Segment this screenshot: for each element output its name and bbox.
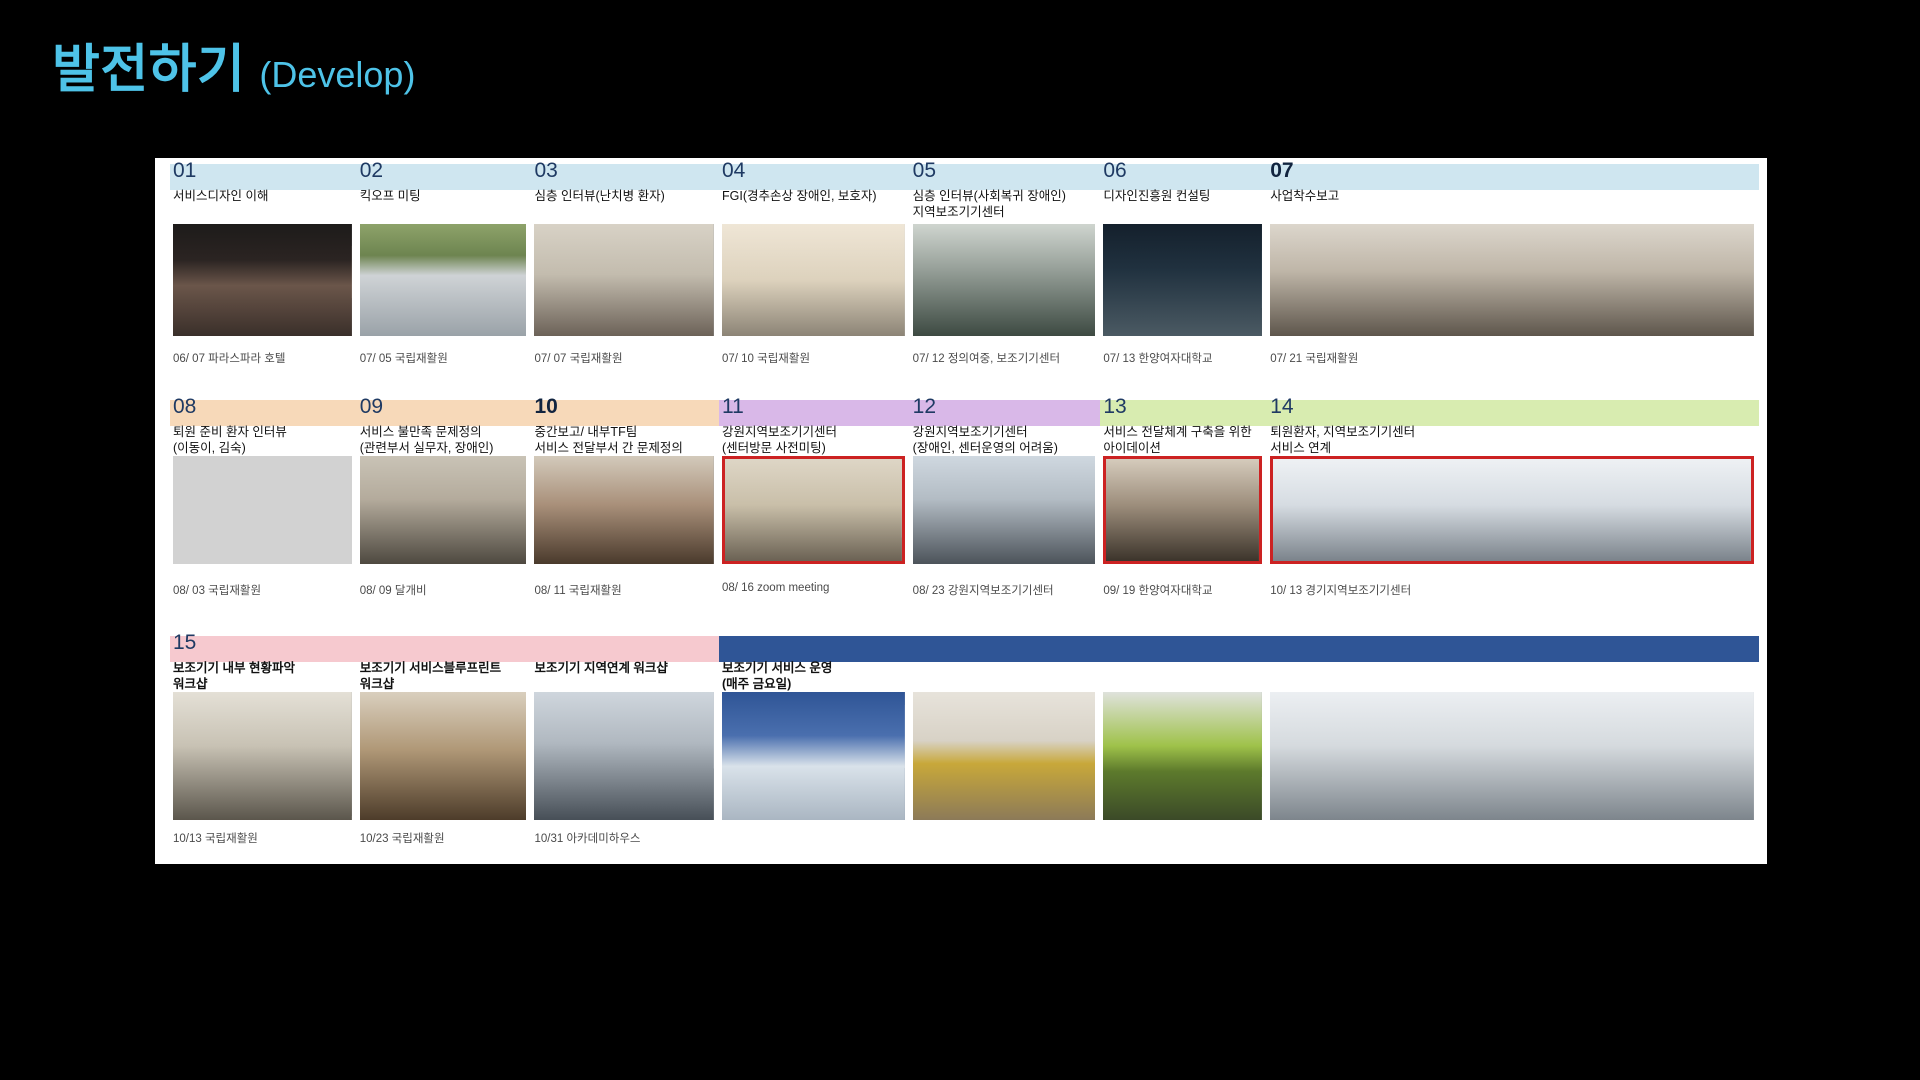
item-label xyxy=(910,656,1109,692)
item-label: 사업착수보고 xyxy=(1267,184,1767,220)
item-number: 09 xyxy=(357,394,532,420)
item-number: 01 xyxy=(170,158,357,184)
item-label: 보조기기 서비스 운영 (매주 금요일) xyxy=(719,656,918,692)
item-number: 11 xyxy=(719,394,910,420)
item-number: 15 xyxy=(170,630,357,656)
timeline-item[interactable]: 10중간보고/ 내부TF팀 서비스 전달부서 간 문제정의08/ 11 국립재활… xyxy=(531,394,719,626)
item-number: 12 xyxy=(910,394,1101,420)
item-number: 13 xyxy=(1100,394,1267,420)
item-number: 14 xyxy=(1267,394,1759,420)
item-photo[interactable] xyxy=(1103,224,1262,336)
item-label: 심층 인터뷰(사회복귀 장애인) 지역보조기기센터 xyxy=(910,184,1109,220)
timeline-item[interactable]: 04FGI(경추손상 장애인, 보호자)07/ 10 국립재활원 xyxy=(719,158,910,394)
item-label: FGI(경추손상 장애인, 보호자) xyxy=(719,184,924,220)
timeline-item[interactable]: 02킥오프 미팅07/ 05 국립재활원 xyxy=(357,158,532,394)
item-caption: 07/ 07 국립재활원 xyxy=(534,350,622,366)
item-photo[interactable] xyxy=(1270,456,1754,564)
timeline-item[interactable] xyxy=(1100,630,1267,864)
item-label: 퇴원환자, 지역보조기기센터 서비스 연계 xyxy=(1267,420,1767,456)
item-caption: 08/ 03 국립재활원 xyxy=(173,582,261,598)
item-photo[interactable] xyxy=(360,456,527,564)
item-number xyxy=(910,630,1101,656)
timeline-item[interactable]: 11강원지역보조기기센터 (센터방문 사전미팅)08/ 16 zoom meet… xyxy=(719,394,910,626)
timeline-item[interactable]: 08퇴원 준비 환자 인터뷰 (이동이, 김숙)08/ 03 국립재활원 xyxy=(170,394,357,626)
item-caption: 08/ 16 zoom meeting xyxy=(722,582,829,594)
item-label: 킥오프 미팅 xyxy=(357,184,540,220)
item-number: 03 xyxy=(531,158,719,184)
item-caption: 07/ 10 국립재활원 xyxy=(722,350,810,366)
item-label xyxy=(1100,656,1275,692)
item-caption: 10/ 13 경기지역보조기기센터 xyxy=(1270,582,1411,598)
page-title: 발전하기(Develop) xyxy=(52,44,415,96)
timeline-item[interactable]: 01서비스디자인 이해06/ 07 파라스파라 호텔 xyxy=(170,158,357,394)
timeline-item[interactable]: 보조기기 지역연계 워크샵10/31 아카데미하우스 xyxy=(531,630,719,864)
item-label: 보조기기 내부 현황파악 워크샵 xyxy=(170,656,365,692)
item-number: 02 xyxy=(357,158,532,184)
timeline-item[interactable]: 05심층 인터뷰(사회복귀 장애인) 지역보조기기센터07/ 12 정의여중, … xyxy=(910,158,1101,394)
item-photo[interactable] xyxy=(1270,692,1754,820)
item-number: 06 xyxy=(1100,158,1267,184)
item-photo[interactable] xyxy=(534,692,714,820)
timeline-item[interactable]: 14퇴원환자, 지역보조기기센터 서비스 연계10/ 13 경기지역보조기기센터 xyxy=(1267,394,1759,626)
row-3-columns: 15보조기기 내부 현황파악 워크샵10/13 국립재활원보조기기 서비스블루프… xyxy=(170,630,1759,864)
page-title-english: (Develop) xyxy=(259,54,415,95)
item-caption: 10/23 국립재활원 xyxy=(360,830,445,846)
item-photo[interactable] xyxy=(534,456,714,564)
row-2-columns: 08퇴원 준비 환자 인터뷰 (이동이, 김숙)08/ 03 국립재활원09서비… xyxy=(170,394,1759,626)
item-photo[interactable] xyxy=(173,224,352,336)
item-caption: 07/ 05 국립재활원 xyxy=(360,350,448,366)
item-photo[interactable] xyxy=(1270,224,1754,336)
item-caption: 06/ 07 파라스파라 호텔 xyxy=(173,350,285,366)
item-number xyxy=(1100,630,1267,656)
page-title-korean: 발전하기 xyxy=(52,41,245,99)
item-number: 04 xyxy=(719,158,910,184)
item-photo[interactable] xyxy=(173,692,352,820)
item-label: 심층 인터뷰(난치병 환자) xyxy=(531,184,727,220)
row-1-columns: 01서비스디자인 이해06/ 07 파라스파라 호텔02킥오프 미팅07/ 05… xyxy=(170,158,1759,394)
item-caption: 09/ 19 한양여자대학교 xyxy=(1103,582,1212,598)
item-number xyxy=(357,630,532,656)
timeline-row-1: 01서비스디자인 이해06/ 07 파라스파라 호텔02킥오프 미팅07/ 05… xyxy=(155,158,1767,394)
item-photo[interactable] xyxy=(1103,456,1262,564)
item-photo[interactable] xyxy=(913,224,1096,336)
item-caption: 08/ 09 달개비 xyxy=(360,582,427,598)
item-number: 05 xyxy=(910,158,1101,184)
item-label: 중간보고/ 내부TF팀 서비스 전달부서 간 문제정의 xyxy=(531,420,727,456)
item-label: 강원지역보조기기센터 (장애인, 센터운영의 어려움) xyxy=(910,420,1109,456)
item-number xyxy=(531,630,719,656)
item-label xyxy=(1267,656,1767,692)
timeline-item[interactable]: 07사업착수보고07/ 21 국립재활원 xyxy=(1267,158,1759,394)
item-label: 디자인진흥원 컨설팅 xyxy=(1100,184,1275,220)
item-label: 서비스디자인 이해 xyxy=(170,184,365,220)
timeline-item[interactable]: 보조기기 서비스 운영 (매주 금요일) xyxy=(719,630,910,864)
item-number xyxy=(1267,630,1759,656)
item-caption: 08/ 23 강원지역보조기기센터 xyxy=(913,582,1054,598)
item-photo[interactable] xyxy=(173,456,352,564)
timeline-row-3: 15보조기기 내부 현황파악 워크샵10/13 국립재활원보조기기 서비스블루프… xyxy=(155,630,1767,864)
timeline-item[interactable]: 09서비스 불만족 문제정의 (관련부서 실무자, 장애인)08/ 09 달개비 xyxy=(357,394,532,626)
item-number xyxy=(719,630,910,656)
timeline-item[interactable]: 12강원지역보조기기센터 (장애인, 센터운영의 어려움)08/ 23 강원지역… xyxy=(910,394,1101,626)
item-photo[interactable] xyxy=(722,224,905,336)
timeline-item[interactable]: 15보조기기 내부 현황파악 워크샵10/13 국립재활원 xyxy=(170,630,357,864)
item-label: 퇴원 준비 환자 인터뷰 (이동이, 김숙) xyxy=(170,420,365,456)
item-label: 보조기기 서비스블루프린트 워크샵 xyxy=(357,656,540,692)
item-photo[interactable] xyxy=(534,224,714,336)
item-caption: 07/ 12 정의여중, 보조기기센터 xyxy=(913,350,1060,366)
timeline-item[interactable]: 보조기기 서비스블루프린트 워크샵10/23 국립재활원 xyxy=(357,630,532,864)
item-photo[interactable] xyxy=(913,692,1096,820)
item-photo[interactable] xyxy=(360,692,527,820)
item-label: 서비스 전달체계 구축을 위한 아이데이션 xyxy=(1100,420,1275,456)
item-photo[interactable] xyxy=(722,692,905,820)
timeline-item[interactable] xyxy=(1267,630,1759,864)
timeline-row-2: 08퇴원 준비 환자 인터뷰 (이동이, 김숙)08/ 03 국립재활원09서비… xyxy=(155,394,1767,626)
item-number: 10 xyxy=(531,394,719,420)
item-label: 보조기기 지역연계 워크샵 xyxy=(531,656,727,692)
item-caption: 07/ 13 한양여자대학교 xyxy=(1103,350,1212,366)
timeline-item[interactable]: 03심층 인터뷰(난치병 환자)07/ 07 국립재활원 xyxy=(531,158,719,394)
item-number: 07 xyxy=(1267,158,1759,184)
timeline-item[interactable] xyxy=(910,630,1101,864)
timeline-item[interactable]: 13서비스 전달체계 구축을 위한 아이데이션09/ 19 한양여자대학교 xyxy=(1100,394,1267,626)
item-label: 강원지역보조기기센터 (센터방문 사전미팅) xyxy=(719,420,918,456)
item-photo[interactable] xyxy=(1103,692,1262,820)
timeline-panel: 01서비스디자인 이해06/ 07 파라스파라 호텔02킥오프 미팅07/ 05… xyxy=(155,158,1767,864)
item-caption: 07/ 21 국립재활원 xyxy=(1270,350,1358,366)
item-photo[interactable] xyxy=(360,224,527,336)
item-caption: 10/31 아카데미하우스 xyxy=(534,830,640,846)
item-caption: 10/13 국립재활원 xyxy=(173,830,258,846)
timeline-item[interactable]: 06디자인진흥원 컨설팅07/ 13 한양여자대학교 xyxy=(1100,158,1267,394)
item-caption: 08/ 11 국립재활원 xyxy=(534,582,621,598)
item-number: 08 xyxy=(170,394,357,420)
item-photo[interactable] xyxy=(722,456,905,564)
item-photo[interactable] xyxy=(913,456,1096,564)
item-label: 서비스 불만족 문제정의 (관련부서 실무자, 장애인) xyxy=(357,420,540,456)
